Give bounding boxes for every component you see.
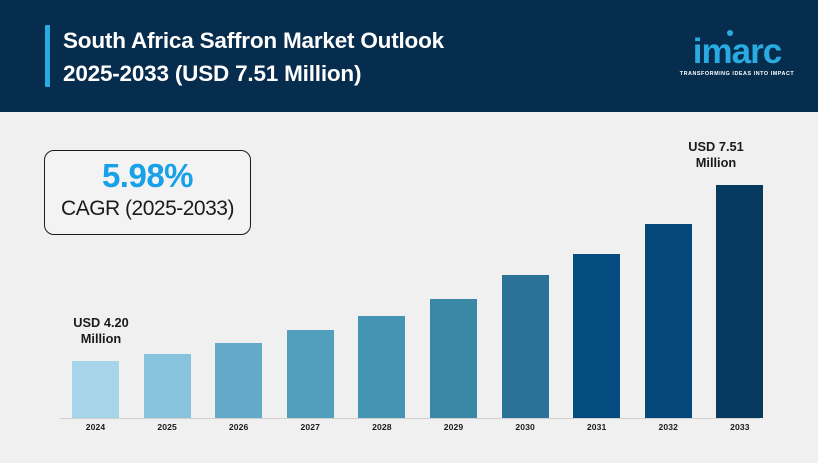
- bar-2029[interactable]: [430, 299, 477, 418]
- end-value-line-2: Million: [672, 155, 760, 171]
- x-tick-2030: 2030: [492, 422, 559, 432]
- x-tick-2029: 2029: [420, 422, 487, 432]
- x-tick-2027: 2027: [277, 422, 344, 432]
- x-tick-2025: 2025: [134, 422, 201, 432]
- x-tick-2031: 2031: [563, 422, 630, 432]
- bar-2027[interactable]: [287, 330, 334, 418]
- x-tick-2026: 2026: [205, 422, 272, 432]
- bar-2025[interactable]: [144, 354, 191, 418]
- x-tick-2032: 2032: [635, 422, 702, 432]
- bar-2024[interactable]: [72, 361, 119, 418]
- x-tick-2024: 2024: [62, 422, 129, 432]
- x-axis-line: [60, 418, 760, 419]
- infographic-root: South Africa Saffron Market Outlook 2025…: [0, 0, 818, 463]
- x-tick-2033: 2033: [706, 422, 773, 432]
- start-value-line-2: Million: [58, 331, 144, 347]
- bar-2030[interactable]: [502, 275, 549, 418]
- start-value-line-1: USD 4.20: [58, 315, 144, 331]
- bar-2033[interactable]: [716, 185, 763, 418]
- bar-2028[interactable]: [358, 316, 405, 418]
- x-tick-2028: 2028: [348, 422, 415, 432]
- bar-2032[interactable]: [645, 224, 692, 418]
- start-value-callout: USD 4.20 Million: [58, 315, 144, 346]
- bar-2026[interactable]: [215, 343, 262, 418]
- bar-2031[interactable]: [573, 254, 620, 418]
- end-value-callout: USD 7.51 Million: [672, 139, 760, 170]
- end-value-line-1: USD 7.51: [672, 139, 760, 155]
- bar-chart: 2024202520262027202820292030203120322033…: [0, 0, 818, 463]
